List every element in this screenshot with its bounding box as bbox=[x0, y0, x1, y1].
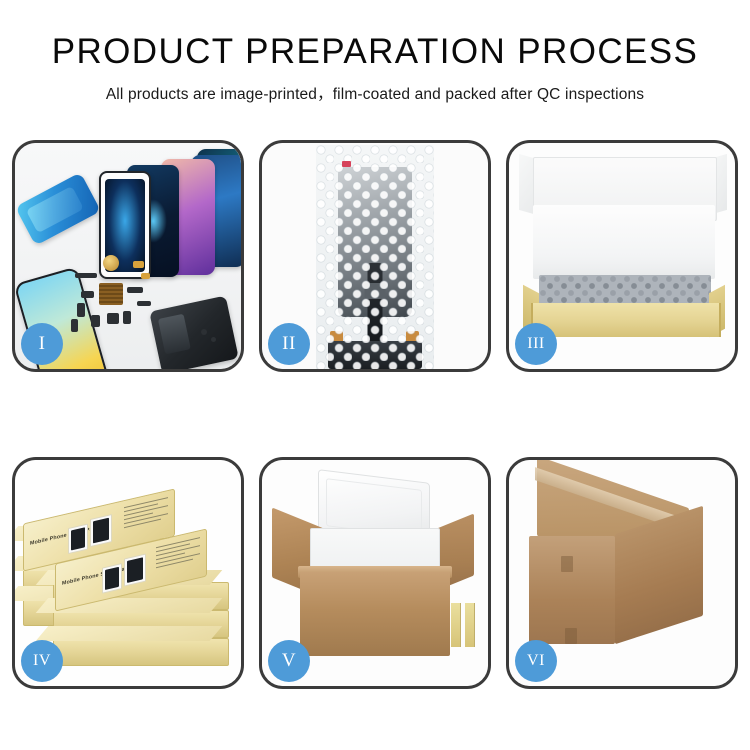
gold-box-front bbox=[531, 303, 721, 337]
phone-back-cover-blue bbox=[15, 172, 101, 246]
part-flex-cable bbox=[127, 287, 143, 293]
step-panel-4[interactable]: Mobile Phone Spare Parts Mobile Phone Sp… bbox=[12, 457, 244, 689]
step-badge-6: VI bbox=[515, 640, 557, 682]
part-antenna-strip bbox=[137, 301, 151, 306]
box-window-top-a bbox=[68, 524, 88, 555]
step-badge-4: IV bbox=[21, 640, 63, 682]
process-step-grid: I Assorted mobile phone screens, back co… bbox=[12, 140, 738, 689]
part-sim-tray bbox=[71, 319, 78, 332]
step-badge-3: III bbox=[515, 323, 557, 365]
page-subtitle: All products are image-printed，film-coat… bbox=[0, 82, 750, 104]
bubble-wrap-bag bbox=[316, 145, 434, 369]
gold-box-stack: Mobile Phone Spare Parts Mobile Phone Sp… bbox=[23, 486, 239, 666]
part-vibrator bbox=[123, 311, 131, 324]
step-numeral-2: II bbox=[282, 333, 296, 355]
part-speaker-coin bbox=[103, 255, 119, 271]
part-screw-a bbox=[201, 329, 207, 335]
part-screw-b bbox=[211, 337, 216, 342]
qc-red-sticker bbox=[342, 161, 351, 167]
carton-body bbox=[300, 572, 450, 656]
step-panel-2[interactable]: II LCD screen assembly sealed inside a b… bbox=[259, 140, 491, 372]
step-numeral-5: V bbox=[282, 650, 296, 672]
step-panel-1[interactable]: I Assorted mobile phone screens, back co… bbox=[12, 140, 244, 372]
box-window-second-a bbox=[102, 563, 122, 594]
part-gold-bracket-b bbox=[141, 273, 150, 279]
part-earpiece-mesh bbox=[75, 273, 97, 278]
box-spec-lines-top bbox=[124, 497, 168, 535]
box-window-top-b bbox=[90, 514, 112, 547]
box-window-second-b bbox=[124, 554, 146, 587]
box-spec-lines-second bbox=[156, 537, 200, 575]
phone-opened-back-panel bbox=[149, 296, 239, 369]
stacked-box-6 bbox=[53, 638, 229, 666]
page-title: PRODUCT PREPARATION PROCESS bbox=[0, 34, 750, 71]
part-logic-board bbox=[99, 283, 123, 305]
part-gold-bracket-a bbox=[133, 261, 144, 268]
bubble-texture bbox=[316, 145, 434, 369]
part-camera-module bbox=[107, 313, 119, 324]
part-connector-a bbox=[81, 291, 94, 298]
step-numeral-6: VI bbox=[527, 652, 545, 670]
step-badge-1: I bbox=[21, 323, 63, 365]
step-badge-2: II bbox=[268, 323, 310, 365]
part-button-set bbox=[91, 315, 100, 327]
step-badge-5: V bbox=[268, 640, 310, 682]
part-connector-b bbox=[77, 303, 85, 317]
step-numeral-1: I bbox=[39, 333, 46, 355]
page-header: PRODUCT PREPARATION PROCESS All products… bbox=[0, 0, 750, 104]
carton-notch-lower bbox=[565, 628, 577, 644]
step-panel-5[interactable]: V Brown shipping carton with white foam … bbox=[259, 457, 491, 689]
step-panel-3[interactable]: III Open gold carton box with white foam… bbox=[506, 140, 738, 372]
carton-notch-upper bbox=[561, 556, 573, 572]
step-panel-6[interactable]: VI Sealed brown cardboard shipping carto… bbox=[506, 457, 738, 689]
white-foam-sheet bbox=[533, 205, 715, 279]
step-numeral-4: IV bbox=[33, 652, 51, 670]
step-numeral-3: III bbox=[527, 335, 544, 353]
product-preparation-page: PRODUCT PREPARATION PROCESS All products… bbox=[0, 0, 750, 750]
